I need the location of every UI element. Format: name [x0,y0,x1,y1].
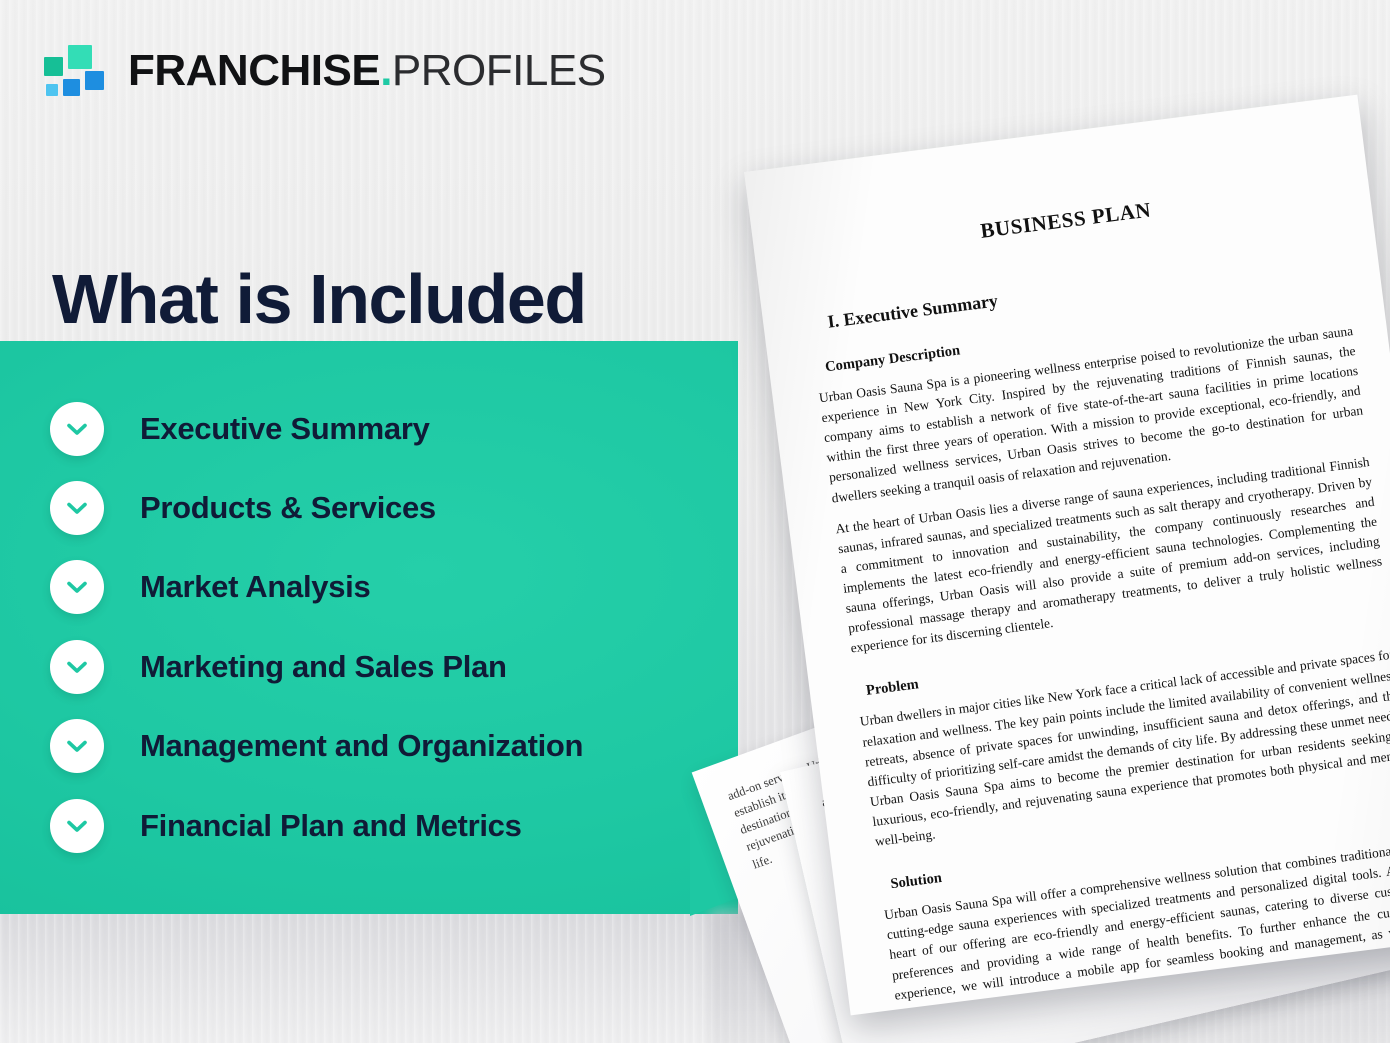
document-stack: add-on services, Urban Oasis Sauna Spa w… [690,120,1390,1043]
page-title: What is Included [52,263,586,337]
list-item[interactable]: Financial Plan and Metrics [50,798,522,854]
list-item[interactable]: Market Analysis [50,559,370,615]
included-items-list: Executive Summary Products & Services Ma… [0,341,738,914]
list-item-label: Products & Services [140,490,436,526]
logo-square-blue-lower [63,79,80,96]
document-page-front[interactable]: BUSINESS PLAN I. Executive Summary Compa… [744,95,1390,1016]
chevron-down-icon [50,402,104,456]
list-item-label: Market Analysis [140,569,370,605]
document-title: BUSINESS PLAN [795,174,1336,267]
list-item[interactable]: Products & Services [50,480,436,536]
logo-square-green [44,57,63,76]
five-squares-logo-icon [44,43,106,99]
wordmark-profiles: PROFILES [392,46,606,95]
chevron-down-icon [50,719,104,773]
chevron-down-icon [50,799,104,853]
list-item-label: Marketing and Sales Plan [140,649,507,685]
list-item-label: Executive Summary [140,411,430,447]
slide-canvas: FRANCHISE.PROFILES What is Included Exec… [0,0,1390,1043]
logo-square-blue-right [85,71,104,90]
logo-square-teal [68,45,92,69]
brand-logo[interactable]: FRANCHISE.PROFILES [44,40,606,102]
list-item[interactable]: Executive Summary [50,401,430,457]
wordmark-dot: . [380,46,392,95]
wordmark-franchise: FRANCHISE [128,46,380,95]
list-item-label: Financial Plan and Metrics [140,808,522,844]
list-item-label: Management and Organization [140,728,583,764]
chevron-down-icon [50,481,104,535]
chevron-down-icon [50,560,104,614]
document-body: BUSINESS PLAN I. Executive Summary Compa… [790,133,1390,1016]
logo-square-lightblue [46,84,58,96]
chevron-down-icon [50,640,104,694]
brand-wordmark: FRANCHISE.PROFILES [128,49,606,93]
list-item[interactable]: Marketing and Sales Plan [50,639,507,695]
list-item[interactable]: Management and Organization [50,718,583,774]
